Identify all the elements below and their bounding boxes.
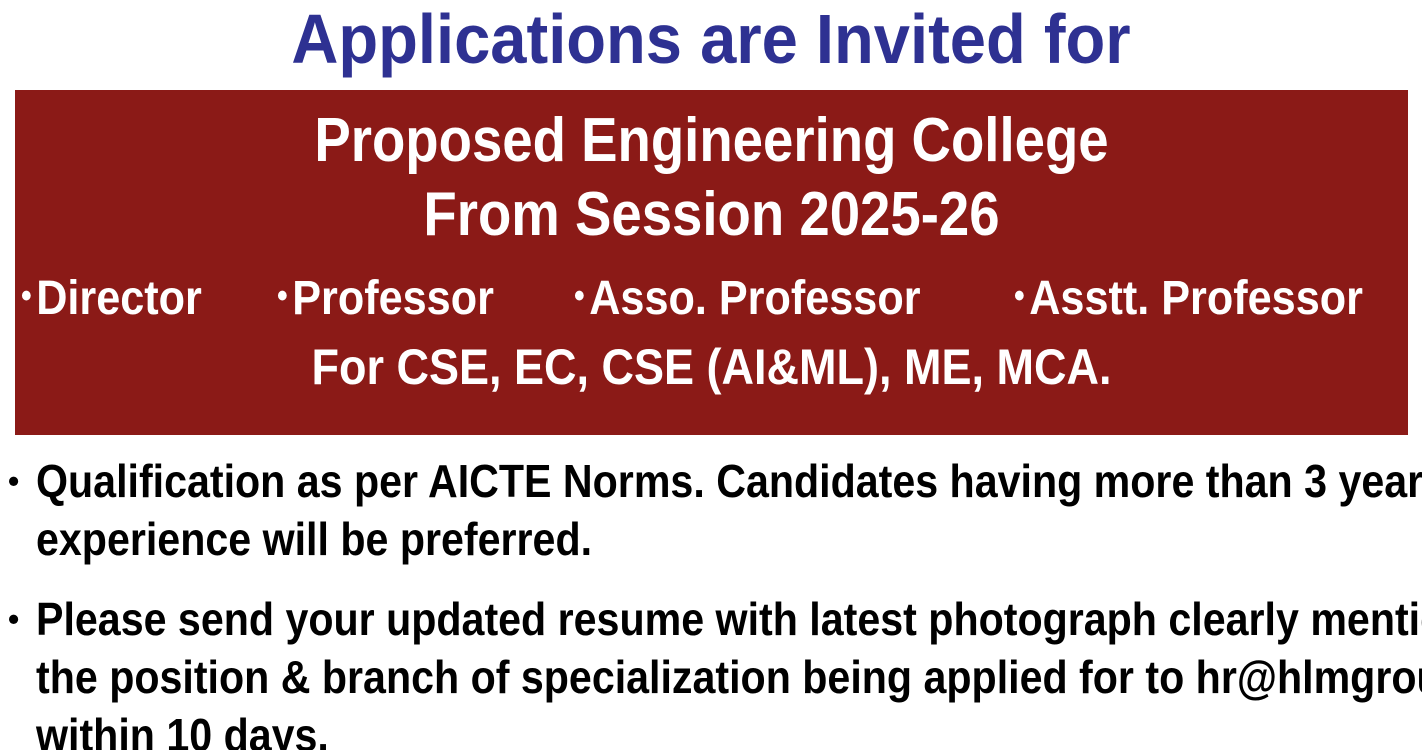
note-body: Please send your updated resume with lat…	[36, 590, 1273, 750]
position-item-director: •Director	[21, 268, 202, 330]
notes-list: • Qualification as per AICTE Norms. Cand…	[6, 452, 1418, 750]
note-line: experience will be preferred.	[36, 510, 1273, 568]
position-item-asstt-professor: •Asstt. Professor	[1014, 268, 1363, 330]
note-body: Qualification as per AICTE Norms. Candid…	[36, 452, 1273, 568]
note-line: Please send your updated resume with lat…	[36, 590, 1273, 648]
note-item-qualification: • Qualification as per AICTE Norms. Cand…	[6, 452, 1418, 568]
position-item-asso-professor: •Asso. Professor	[574, 268, 921, 330]
banner-title-line-2: From Session 2025-26	[99, 178, 1325, 252]
banner-title-line-1: Proposed Engineering College	[99, 104, 1325, 178]
red-banner-box: Proposed Engineering College From Sessio…	[15, 90, 1408, 435]
position-label: Professor	[293, 272, 495, 325]
bullet-icon: •	[277, 277, 288, 315]
recruitment-advertisement: Applications are Invited for Proposed En…	[0, 0, 1422, 750]
note-line: within 10 days.	[36, 706, 1273, 750]
note-line: Qualification as per AICTE Norms. Candid…	[36, 452, 1273, 510]
position-label: Director	[36, 272, 202, 325]
bullet-icon: •	[8, 452, 19, 510]
page-title: Applications are Invited for	[50, 0, 1372, 84]
note-item-resume-submission: • Please send your updated resume with l…	[6, 590, 1418, 750]
bullet-icon: •	[574, 277, 585, 315]
bullet-icon: •	[21, 277, 32, 315]
note-line: the position & branch of specialization …	[36, 648, 1273, 706]
position-label: Asso. Professor	[589, 272, 920, 325]
branches-line: For CSE, EC, CSE (AI&ML), ME, MCA.	[85, 335, 1339, 399]
position-label: Asstt. Professor	[1029, 272, 1363, 325]
bullet-icon: •	[8, 590, 19, 648]
position-item-professor: •Professor	[277, 268, 494, 330]
bullet-icon: •	[1014, 277, 1025, 315]
positions-row: •Director •Professor •Asso. Professor •A…	[21, 268, 1402, 330]
